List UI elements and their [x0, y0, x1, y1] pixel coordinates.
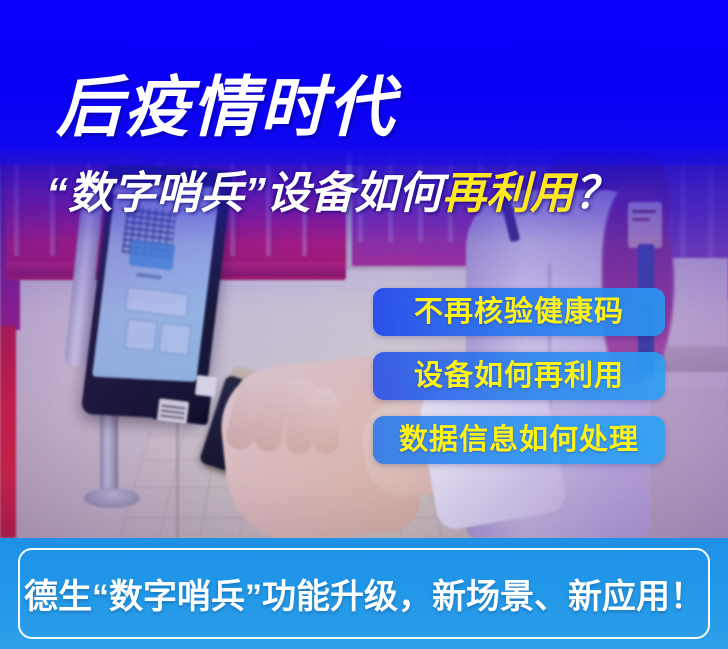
screen-button-left	[124, 318, 157, 351]
finger-little	[310, 387, 341, 455]
topic-pill-1[interactable]: 不再核验健康码	[373, 288, 665, 336]
id-badge	[628, 202, 662, 248]
topic-pill-list: 不再核验健康码 设备如何再利用 数据信息如何处理	[373, 288, 665, 480]
subtitle-lead: “数字哨兵”设备如何	[46, 169, 442, 218]
badge-line-2	[632, 218, 650, 221]
poster-root: 后疫情时代 “数字哨兵”设备如何再利用？ 不再核验健康码 设备如何再利用 数据信…	[0, 0, 728, 649]
page-title: 后疫情时代	[56, 74, 396, 140]
screen-blue-banner	[129, 239, 176, 270]
subtitle-highlight: 再利用	[442, 169, 574, 218]
kiosk-base	[84, 488, 140, 508]
topic-pill-3[interactable]: 数据信息如何处理	[373, 416, 665, 464]
topic-pill-3-label: 数据信息如何处理	[399, 426, 639, 455]
topic-pill-2-label: 设备如何再利用	[414, 362, 624, 391]
topic-pill-2[interactable]: 设备如何再利用	[373, 352, 665, 400]
badge-line-1	[632, 210, 656, 213]
screen-button-right	[158, 322, 191, 355]
left-red-strip	[0, 326, 16, 538]
kiosk-white-tag	[195, 375, 217, 397]
topic-pill-1-label: 不再核验健康码	[414, 298, 624, 327]
subtitle-question-mark: ？	[574, 169, 618, 218]
banner-text: 德生“数字哨兵”功能升级，新场景、新应用！	[0, 538, 728, 649]
page-subtitle: “数字哨兵”设备如何再利用？	[46, 172, 618, 216]
kiosk-barcode-label	[157, 398, 189, 423]
